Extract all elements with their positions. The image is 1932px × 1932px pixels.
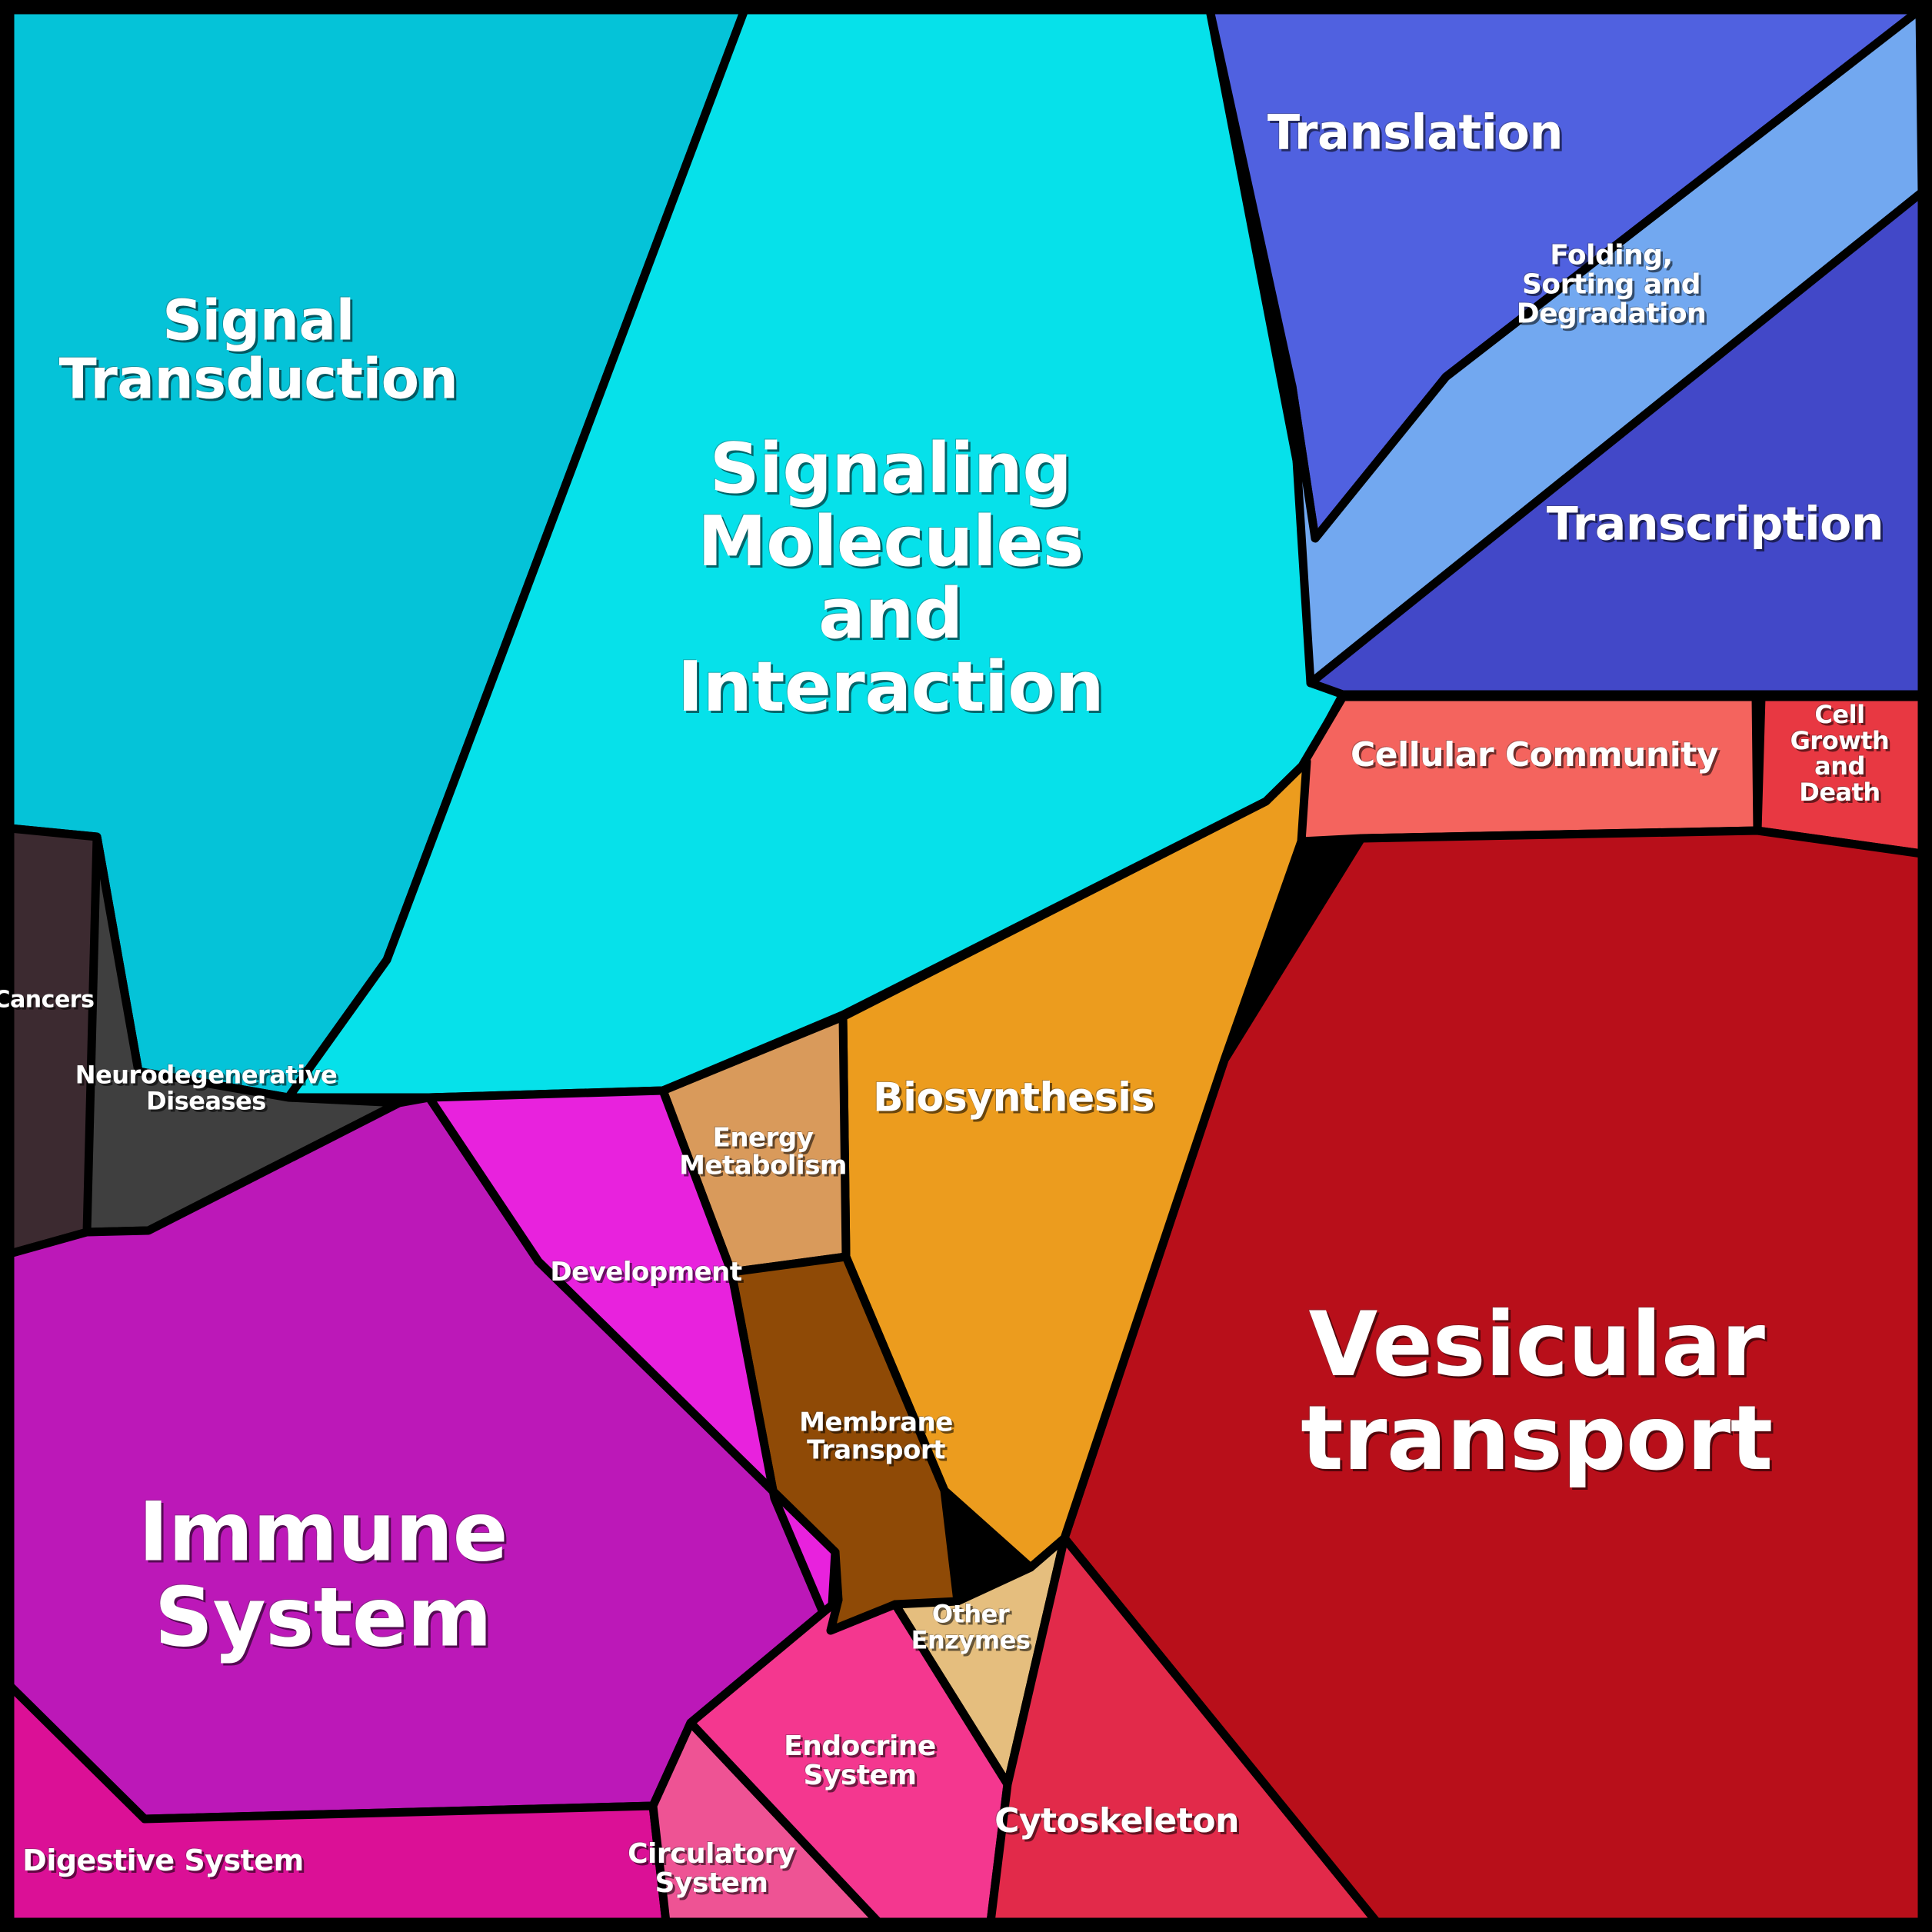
treemap-svg [0, 0, 1932, 1932]
treemap-cell-cellular-community[interactable] [1301, 697, 1757, 841]
treemap-cells-layer [10, 10, 1922, 1922]
voronoi-treemap-figure: Signal TransductionSignaling Molecules a… [0, 0, 1932, 1932]
